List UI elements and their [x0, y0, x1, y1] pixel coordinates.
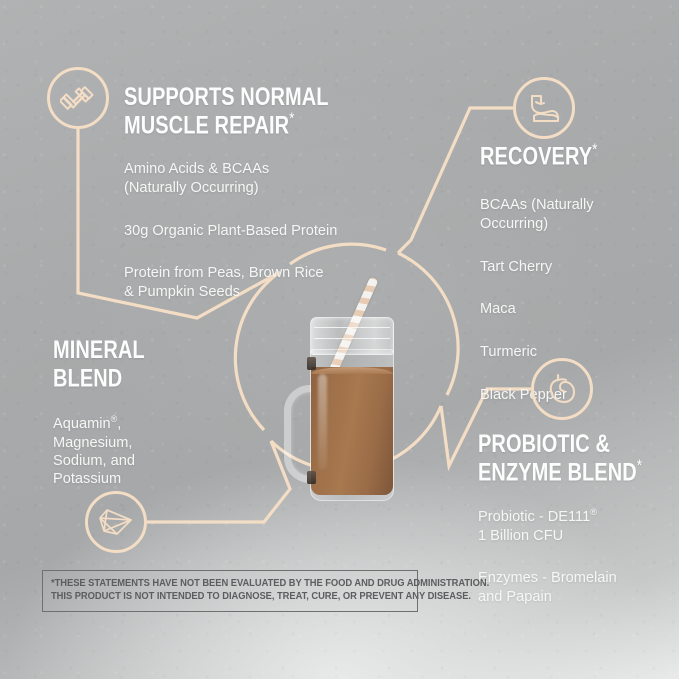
jar-clip-bottom	[307, 471, 316, 484]
enzymes-line: Enzymes - Bromelain and Papain	[478, 569, 678, 606]
recovery-line-3: Maca	[480, 300, 675, 318]
muscle-repair-line-2: 30g Organic Plant-Based Protein	[124, 222, 424, 240]
recovery-heading: RECOVERY*	[480, 141, 679, 169]
flexed-bicep-icon	[513, 77, 575, 139]
gemstone-icon	[85, 491, 147, 553]
stomach-icon	[531, 358, 593, 420]
mineral-blend-ingredients: Aquamin®, Magnesium, Sodium, and Potassi…	[53, 414, 233, 488]
muscle-repair-line-3: Protein from Peas, Brown Rice & Pumpkin …	[124, 264, 424, 301]
jar-clip-top	[307, 357, 316, 370]
disclaimer-line-2: THIS PRODUCT IS NOT INTENDED TO DIAGNOSE…	[51, 590, 380, 603]
glass-highlight	[318, 374, 327, 470]
probiotic-enzyme-heading: PROBIOTIC & ENZYME BLEND*	[478, 431, 679, 485]
mason-jar-shake-image	[285, 299, 410, 511]
probiotic-enzyme-body: Probiotic - DE111® 1 Billion CFU Enzymes…	[478, 489, 678, 624]
recovery-line-1: BCAAs (Naturally Occurring)	[480, 196, 675, 233]
recovery-line-4: Turmeric	[480, 343, 675, 361]
disclaimer-line-1: *THESE STATEMENTS HAVE NOT BEEN EVALUATE…	[51, 577, 380, 590]
fda-disclaimer: *THESE STATEMENTS HAVE NOT BEEN EVALUATE…	[42, 570, 418, 612]
muscle-repair-heading: SUPPORTS NORMAL MUSCLE REPAIR*	[124, 84, 388, 138]
muscle-repair-body: Amino Acids & BCAAs (Naturally Occurring…	[124, 142, 424, 319]
probiotic-line: Probiotic - DE111® 1 Billion CFU	[478, 507, 678, 545]
recovery-line-2: Tart Cherry	[480, 258, 675, 276]
product-benefits-infographic: SUPPORTS NORMAL MUSCLE REPAIR* Amino Aci…	[0, 0, 679, 679]
mineral-blend-body: Aquamin®, Magnesium, Sodium, and Potassi…	[53, 396, 233, 507]
mineral-blend-heading: MINERAL BLEND	[53, 337, 253, 391]
jar-body	[310, 349, 394, 501]
dumbbell-icon	[47, 67, 109, 129]
muscle-repair-line-1: Amino Acids & BCAAs (Naturally Occurring…	[124, 160, 424, 197]
